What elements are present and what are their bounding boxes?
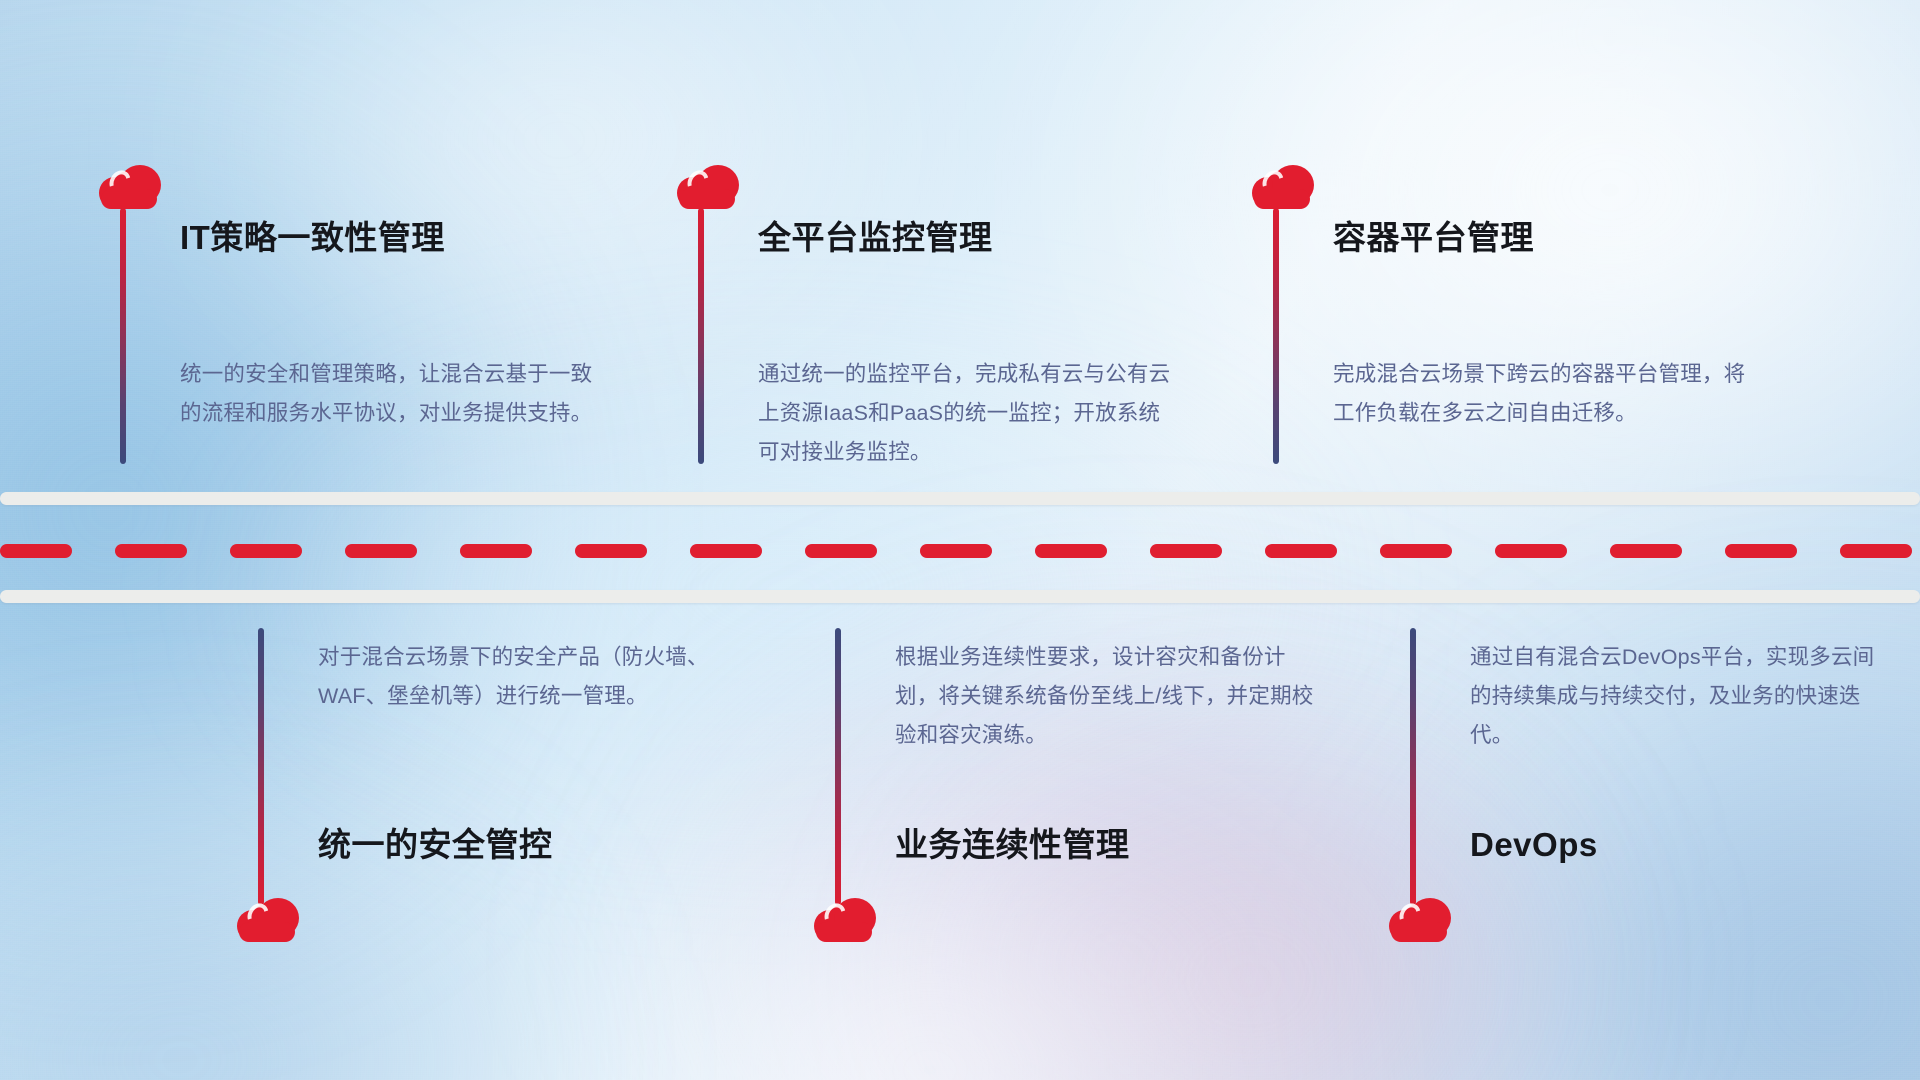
connector-stem <box>835 628 841 905</box>
dash-segment <box>1610 544 1682 558</box>
bottom-column-3-body: 通过自有混合云DevOps平台，实现多云间的持续集成与持续交付，及业务的快速迭代… <box>1470 638 1890 755</box>
top-column-3-heading: 容器平台管理 <box>1333 218 1534 258</box>
dash-segment <box>1265 544 1337 558</box>
dash-segment <box>690 544 762 558</box>
solid-rule-lower <box>0 590 1920 603</box>
dash-segment <box>0 544 72 558</box>
bottom-column-2-body: 根据业务连续性要求，设计容灾和备份计划，将关键系统备份至线上/线下，并定期校验和… <box>895 638 1315 755</box>
top-column-1-heading: IT策略一致性管理 <box>180 218 445 258</box>
dash-segment <box>115 544 187 558</box>
dash-segment <box>345 544 417 558</box>
connector-stem <box>258 628 264 905</box>
infographic-canvas: IT策略一致性管理 统一的安全和管理策略，让混合云基于一致的流程和服务水平协议，… <box>0 0 1920 1080</box>
connector-stem <box>1410 628 1416 905</box>
top-column-2-body: 通过统一的监控平台，完成私有云与公有云上资源IaaS和PaaS的统一监控；开放系… <box>758 355 1176 472</box>
cloud-icon <box>1252 165 1314 211</box>
dash-segment <box>1035 544 1107 558</box>
dash-segment <box>1380 544 1452 558</box>
top-column-1-body: 统一的安全和管理策略，让混合云基于一致的流程和服务水平协议，对业务提供支持。 <box>180 355 598 433</box>
cloud-icon <box>99 165 161 211</box>
dash-segment <box>920 544 992 558</box>
bottom-column-3-heading: DevOps <box>1470 825 1598 865</box>
dash-segment <box>575 544 647 558</box>
connector-stem <box>698 208 704 464</box>
dash-segment <box>1840 544 1912 558</box>
dash-segment <box>1495 544 1567 558</box>
cloud-icon <box>677 165 739 211</box>
dashed-red-rule <box>0 544 1920 558</box>
cloud-icon <box>814 898 876 944</box>
bottom-column-1-body: 对于混合云场景下的安全产品（防火墙、WAF、堡垒机等）进行统一管理。 <box>318 638 738 716</box>
cloud-icon <box>1389 898 1451 944</box>
dash-segment <box>1725 544 1797 558</box>
bottom-column-1-heading: 统一的安全管控 <box>318 825 553 865</box>
connector-stem <box>120 208 126 464</box>
top-column-2-heading: 全平台监控管理 <box>758 218 993 258</box>
solid-rule-upper <box>0 492 1920 505</box>
bottom-column-2-heading: 业务连续性管理 <box>895 825 1130 865</box>
top-column-3-body: 完成混合云场景下跨云的容器平台管理，将工作负载在多云之间自由迁移。 <box>1333 355 1751 433</box>
dash-segment <box>805 544 877 558</box>
connector-stem <box>1273 208 1279 464</box>
dash-segment <box>1150 544 1222 558</box>
cloud-icon <box>237 898 299 944</box>
dash-segment <box>460 544 532 558</box>
dash-segment <box>230 544 302 558</box>
